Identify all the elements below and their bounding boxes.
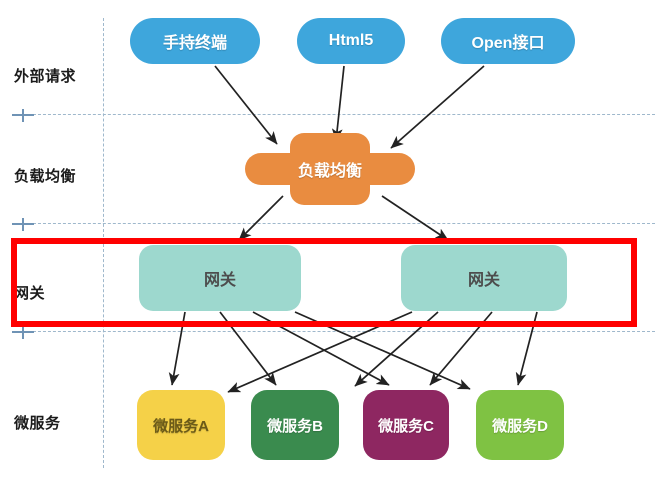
architecture-diagram: 外部请求 负载均衡 网关 微服务 手持终端 Html5 Open接口 负载均衡 …	[0, 0, 663, 500]
node-service-b[interactable]: 微服务B	[251, 390, 339, 460]
arrow-gateway-2-to-service-c	[430, 312, 492, 385]
load-balancer-label: 负载均衡	[245, 133, 415, 205]
arrow-gateway-2-to-service-d	[518, 312, 537, 385]
arrow-html5-to-load-balancer	[336, 66, 344, 141]
node-load-balancer[interactable]: 负载均衡	[245, 133, 415, 205]
node-handheld-terminal[interactable]: 手持终端	[130, 18, 260, 64]
arrow-gateway-1-to-service-d	[295, 312, 470, 389]
node-html5[interactable]: Html5	[297, 18, 405, 64]
row-label-external-request: 外部请求	[14, 65, 76, 86]
arrow-gateway-1-to-service-a	[172, 312, 185, 385]
row-label-microservice: 微服务	[14, 412, 61, 433]
arrow-gateway-2-to-service-b	[355, 312, 438, 386]
node-gateway-2[interactable]: 网关	[401, 245, 567, 311]
node-gateway-1[interactable]: 网关	[139, 245, 301, 311]
row-label-gateway: 网关	[14, 282, 45, 303]
node-service-a[interactable]: 微服务A	[137, 390, 225, 460]
node-open-api[interactable]: Open接口	[441, 18, 575, 64]
node-service-c[interactable]: 微服务C	[363, 390, 449, 460]
node-service-d[interactable]: 微服务D	[476, 390, 564, 460]
row-label-load-balance: 负载均衡	[14, 165, 76, 186]
